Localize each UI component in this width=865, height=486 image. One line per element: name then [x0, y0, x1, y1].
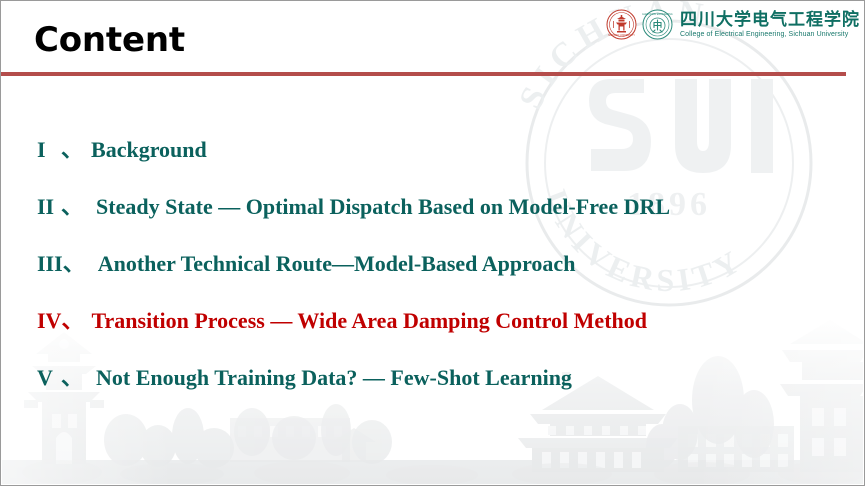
toc-numeral: V [37, 365, 61, 391]
presentation-slide: 1896 SICHUAN UNIVERSITY Content [0, 0, 865, 486]
toc-label: Another Technical Route—Model-Based Appr… [87, 251, 576, 277]
toc-numeral: I [37, 137, 61, 163]
toc-label: Steady State — Optimal Dispatch Based on… [85, 194, 670, 220]
toc-label: Background [85, 137, 207, 163]
toc-item-3[interactable]: III 、 Another Technical Route—Model-Base… [37, 251, 575, 277]
institution-name-cn: 四川大学电气工程学院 [680, 10, 860, 30]
institution-logo-lockup: SICHUAN UNIVERSITY [606, 6, 860, 42]
toc-item-2[interactable]: II 、 Steady State — Optimal Dispatch Bas… [37, 194, 670, 220]
institution-name-block: 四川大学电气工程学院 College of Electrical Enginee… [680, 10, 860, 39]
toc-separator: 、 [61, 365, 83, 391]
campus-photo-watermark [2, 314, 863, 484]
toc-label: Transition Process — Wide Area Damping C… [85, 308, 647, 334]
toc-item-5[interactable]: V 、 Not Enough Training Data? — Few-Shot… [37, 365, 572, 391]
toc-numeral: III [37, 251, 63, 277]
page-title: Content [34, 20, 185, 60]
toc-separator: 、 [61, 137, 83, 163]
toc-item-4[interactable]: IV 、 Transition Process — Wide Area Damp… [37, 308, 647, 334]
svg-text:SICHUAN UNIVERSITY: SICHUAN UNIVERSITY [608, 34, 635, 37]
toc-separator: 、 [61, 308, 83, 334]
toc-separator: 、 [61, 194, 83, 220]
title-divider-rule [1, 72, 846, 76]
toc-label: Not Enough Training Data? — Few-Shot Lea… [85, 365, 572, 391]
slide-header: Content [1, 1, 865, 77]
toc-separator: 、 [63, 251, 85, 277]
institution-name-en: College of Electrical Engineering, Sichu… [680, 30, 860, 39]
college-of-electrical-engineering-seal-icon: ELECTRICAL ENGINEERING [642, 9, 673, 40]
toc-item-1[interactable]: I 、 Background [37, 137, 207, 163]
toc-numeral: II [37, 194, 61, 220]
toc-numeral: IV [37, 308, 61, 334]
sichuan-university-seal-icon: SICHUAN UNIVERSITY [606, 9, 637, 40]
